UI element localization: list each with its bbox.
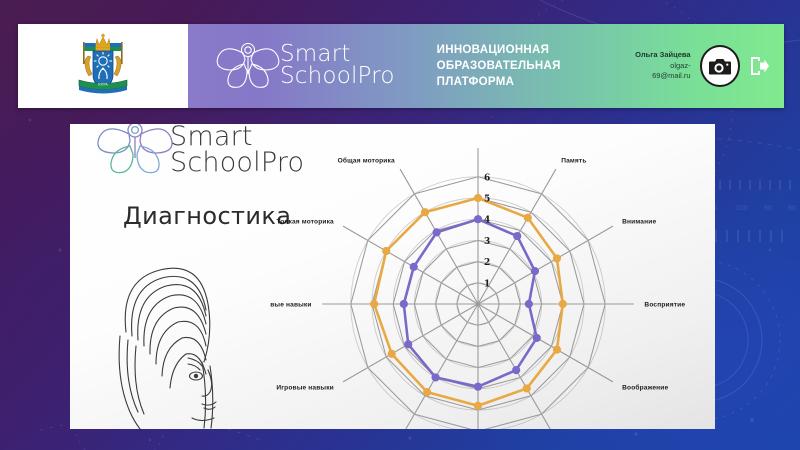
svg-text:ЮГРА: ЮГРА [98, 83, 108, 87]
logout-icon [749, 55, 769, 77]
radar-axis-label: Память [561, 157, 586, 164]
radar-data-point [559, 300, 567, 308]
radar-tick-label: 5 [484, 195, 490, 205]
radar-data-point [474, 402, 482, 410]
radar-data-point [433, 228, 441, 236]
radar-axis-spoke [478, 304, 613, 382]
radar-data-point [404, 340, 412, 348]
radar-axis-spoke [400, 169, 478, 304]
radar-data-point [423, 388, 431, 396]
radar-data-point [513, 232, 521, 240]
region-crest: ЮГРА [18, 24, 188, 108]
radar-tick-label: 1 [484, 279, 490, 289]
radar-axis-spoke [478, 226, 613, 304]
brand: Smart SchoolPro [212, 37, 395, 95]
radar-tick-labels: 123456 [484, 173, 490, 289]
app-header: ЮГРА Smart SchoolPro [18, 24, 784, 108]
radar-data-point [432, 373, 440, 381]
radar-series-group [370, 194, 567, 410]
radar-axis-label: Игровые навыки [276, 385, 334, 392]
radar-axis-label: Тонкая моторика [276, 218, 334, 225]
radar-data-point [410, 263, 418, 271]
tagline-line1: ИННОВАЦИОННАЯ [437, 42, 635, 58]
user-zone: Ольга Зайцева olgaz-69@mail.ru [634, 45, 770, 87]
radar-tick-label: 2 [484, 258, 490, 268]
radar-axis-label: Воображение [622, 384, 668, 392]
radar-data-point [474, 215, 482, 223]
khanty-mansi-coat-of-arms-icon: ЮГРА [71, 32, 135, 100]
svg-text:80: 80 [788, 205, 796, 212]
radar-data-point [400, 300, 408, 308]
radar-series-line [404, 219, 537, 386]
radar-data-point [370, 300, 378, 308]
radar-tick-label: 4 [484, 216, 490, 226]
radar-tick-label: 6 [484, 173, 490, 183]
girl-face-line-art [92, 236, 242, 429]
camera-button[interactable] [700, 45, 740, 87]
radar-chart: 123456 ПамятьВниманиеВосприятиеВоображен… [270, 124, 715, 429]
tagline-line2: ОБРАЗОВАТЕЛЬНАЯ ПЛАТФОРМА [437, 58, 635, 91]
radar-data-point [531, 267, 539, 275]
brand-wordmark: Smart SchoolPro [280, 44, 395, 87]
radar-axis-label: Бытовые навыки [270, 302, 312, 309]
radar-data-point [523, 384, 531, 392]
platform-tagline: ИННОВАЦИОННАЯ ОБРАЗОВАТЕЛЬНАЯ ПЛАТФОРМА [437, 42, 635, 91]
diagnostics-card: Smart SchoolPro Диагностика [70, 124, 715, 429]
page-title: Диагностика [123, 202, 291, 230]
camera-icon [708, 57, 732, 76]
svg-text:100: 100 [736, 205, 748, 212]
butterfly-logo [212, 37, 286, 95]
radar-data-point [474, 194, 482, 202]
radar-data-point [524, 214, 532, 222]
radar-data-point [388, 350, 396, 358]
user-name: Ольга Зайцева [634, 50, 690, 61]
user-info: Ольга Зайцева olgaz-69@mail.ru [634, 50, 690, 83]
radar-chart-svg: 123456 ПамятьВниманиеВосприятиеВоображен… [270, 124, 715, 429]
radar-data-point [553, 345, 561, 353]
user-email: olgaz-69@mail.ru [634, 61, 690, 83]
svg-text:90: 90 [764, 205, 772, 212]
radar-axis-label: Восприятие [644, 302, 685, 309]
radar-data-point [533, 334, 541, 342]
radar-axis-label: Общая моторика [338, 156, 395, 164]
radar-data-point [512, 366, 520, 374]
radar-data-point [382, 247, 390, 255]
radar-data-point [553, 254, 561, 262]
header-main: Smart SchoolPro ИННОВАЦИОННАЯ ОБРАЗОВАТЕ… [188, 24, 784, 108]
radar-data-point [421, 208, 429, 216]
radar-tick-label: 3 [484, 237, 490, 247]
radar-axis-label: Внимание [622, 218, 656, 225]
butterfly-logo [92, 124, 178, 184]
radar-data-point [525, 300, 533, 308]
logout-button[interactable] [749, 54, 770, 78]
brand-line2: SchoolPro [280, 66, 395, 88]
radar-data-point [474, 383, 482, 391]
